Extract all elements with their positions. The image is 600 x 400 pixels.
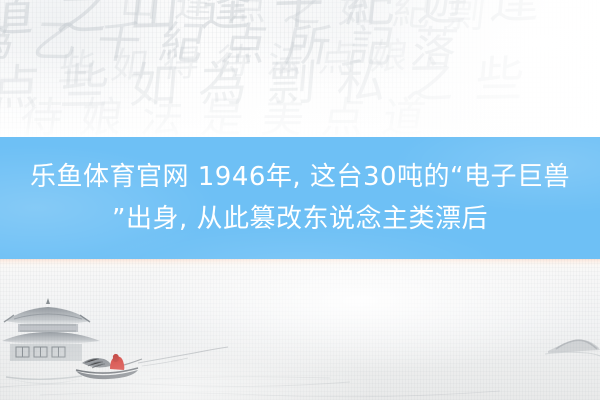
page-title-line-2: ”出身, 从此篡改东说念主类漂后 — [112, 198, 488, 240]
ink-painting-svg — [0, 259, 600, 400]
distant-shoreline-icon — [545, 339, 600, 356]
calligraphy-fade-overlay — [0, 0, 600, 138]
lake-scene — [0, 259, 600, 400]
calligraphy-backdrop: 道 之 山 逢 千 紀 遊 逢 為 乙 千 紀 点 所 記 落 点 些 如 為 … — [0, 0, 600, 138]
title-banner: 乐鱼体育官网 1946年, 这台30吨的“电子巨兽 ”出身, 从此篡改东说念主类… — [0, 137, 600, 259]
water-ripples — [0, 377, 500, 397]
article-cover-card: 道 之 山 逢 千 紀 遊 逢 為 乙 千 紀 点 所 記 落 点 些 如 為 … — [0, 0, 600, 400]
page-title-line-1: 乐鱼体育官网 1946年, 这台30吨的“电子巨兽 — [30, 156, 570, 198]
fishing-boat-icon — [76, 354, 142, 379]
water-wake-icon — [138, 347, 228, 366]
